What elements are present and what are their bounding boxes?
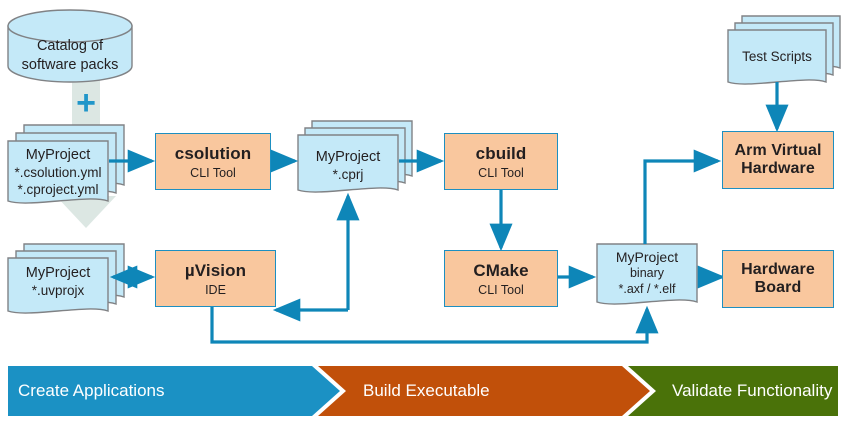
- catalog-label: Catalog of software packs: [8, 30, 132, 82]
- plus-glyph: +: [76, 84, 96, 122]
- csolution-subtitle: CLI Tool: [190, 166, 236, 180]
- cbuild-box[interactable]: cbuild CLI Tool: [444, 133, 558, 190]
- plus-icon: +: [60, 86, 112, 120]
- hw-board-line2: Board: [755, 279, 802, 297]
- hw-board-line1: Hardware: [741, 261, 815, 279]
- catalog-line2: software packs: [22, 56, 119, 75]
- phase-label-create: Create Applications: [18, 366, 164, 416]
- cbuild-title: cbuild: [476, 144, 527, 164]
- arm-virtual-hardware-box[interactable]: Arm Virtual Hardware: [722, 131, 834, 189]
- avh-line1: Arm Virtual: [734, 142, 821, 160]
- csolution-box[interactable]: csolution CLI Tool: [155, 133, 271, 190]
- hardware-board-box[interactable]: Hardware Board: [722, 250, 834, 308]
- phase-validate-text: Validate Functionality: [672, 381, 832, 401]
- binary-doc-shape: [597, 244, 697, 304]
- uvprojx-doc-stack: [8, 244, 124, 313]
- phase-label-validate: Validate Functionality: [672, 366, 832, 416]
- cmake-title: CMake: [473, 261, 528, 281]
- phase-label-build: Build Executable: [363, 366, 490, 416]
- phase-build-text: Build Executable: [363, 381, 490, 401]
- project-yml-doc-stack: [8, 125, 124, 203]
- uvision-title: µVision: [185, 261, 246, 281]
- uvision-subtitle: IDE: [205, 283, 226, 297]
- diagram-canvas: Catalog of software packs + MyProject *.…: [0, 0, 845, 436]
- csolution-title: csolution: [175, 144, 251, 164]
- test-scripts-doc-stack: [728, 16, 840, 84]
- catalog-line1: Catalog of: [37, 37, 103, 56]
- cmake-box[interactable]: CMake CLI Tool: [444, 250, 558, 307]
- cprj-doc-stack: [298, 121, 412, 192]
- uvision-box[interactable]: µVision IDE: [155, 250, 276, 307]
- cbuild-subtitle: CLI Tool: [478, 166, 524, 180]
- phase-create-text: Create Applications: [18, 381, 164, 401]
- cmake-subtitle: CLI Tool: [478, 283, 524, 297]
- connector-binary-to-avh: [645, 161, 718, 244]
- avh-line2: Hardware: [741, 160, 815, 178]
